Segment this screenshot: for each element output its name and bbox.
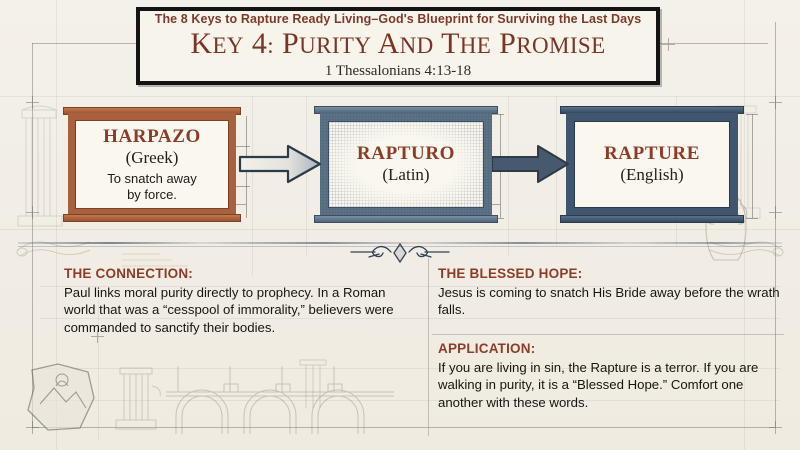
title-plate: The 8 Keys to Rapture Ready Living–God's… — [136, 7, 660, 85]
arrow-rapturo-to-rapture-icon — [492, 142, 570, 186]
word-language: (Latin) — [382, 165, 429, 185]
word-box-harpazo: HARPAZO (Greek) To snatch away by force. — [68, 113, 236, 216]
word-language: (English) — [620, 165, 683, 185]
panel-blessed-hope: THE BLESSED HOPE: Jesus is coming to sna… — [438, 266, 784, 319]
panel-body: Jesus is coming to snatch His Bride away… — [438, 284, 784, 319]
panel-body: Paul links moral purity directly to prop… — [64, 284, 416, 337]
box-content: HARPAZO (Greek) To snatch away by force. — [68, 113, 236, 216]
flourish-ornament-icon — [305, 240, 495, 264]
word-box-rapture: RAPTURE (English) — [566, 113, 738, 216]
panel-heading: THE CONNECTION: — [64, 266, 416, 282]
page-title: KEY 4: PURITY AND THE PROMISE — [190, 29, 605, 59]
word-term: RAPTURE — [604, 144, 700, 164]
word-language: (Greek) — [126, 148, 179, 168]
panel-connection: THE CONNECTION: Paul links moral purity … — [64, 266, 416, 336]
panel-application: APPLICATION: If you are living in sin, t… — [438, 341, 784, 411]
box-cornice-bottom — [63, 214, 241, 222]
box-cornice-bottom — [314, 215, 498, 223]
word-note-line2: by force. — [127, 187, 177, 203]
box-content: RAPTURO (Latin) — [320, 113, 492, 216]
box-content: RAPTURE (English) — [566, 113, 738, 216]
panel-heading: APPLICATION: — [438, 341, 784, 357]
word-term: HARPAZO — [103, 127, 201, 147]
aqueduct-arches-icon — [160, 358, 400, 438]
panel-body: If you are living in sin, the Rapture is… — [438, 359, 784, 412]
scripture-reference: 1 Thessalonians 4:13-18 — [325, 64, 471, 79]
word-term: RAPTURO — [357, 144, 455, 164]
relic-fragment-icon — [18, 358, 104, 436]
column-separator — [428, 258, 429, 436]
section-divider — [0, 238, 800, 264]
arrow-harpazo-to-rapturo-icon — [238, 142, 322, 186]
box-cornice-bottom — [560, 215, 744, 223]
word-note-line1: To snatch away — [107, 171, 197, 187]
panel-separator — [432, 334, 784, 335]
roman-column-icon — [112, 362, 164, 434]
slide-canvas: The 8 Keys to Rapture Ready Living–God's… — [0, 0, 800, 450]
series-kicker: The 8 Keys to Rapture Ready Living–God's… — [155, 13, 642, 26]
word-box-rapturo: RAPTURO (Latin) — [320, 113, 492, 216]
panel-heading: THE BLESSED HOPE: — [438, 266, 784, 282]
roman-column-icon — [296, 356, 330, 412]
